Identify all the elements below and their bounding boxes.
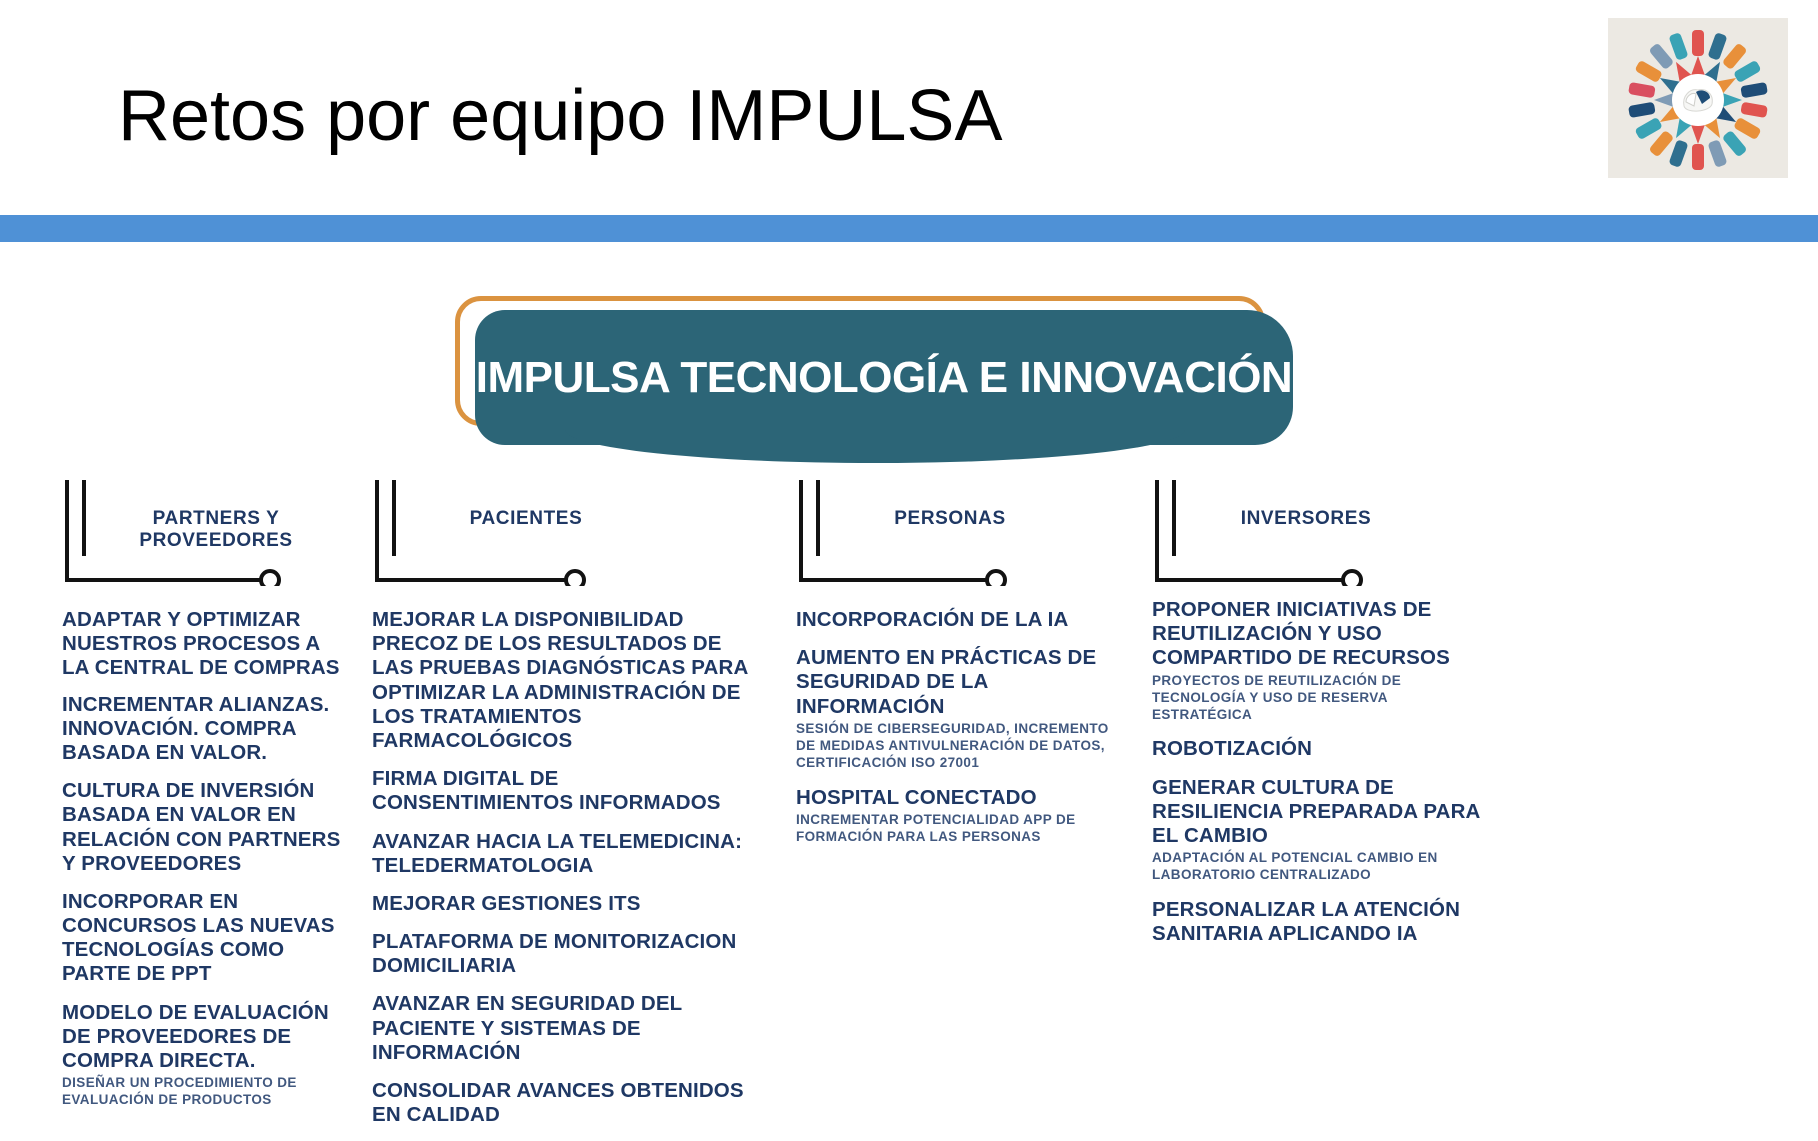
bracket-icon: [796, 480, 1126, 586]
column-header: INVERSORES: [1152, 480, 1482, 586]
list-item: INCORPORAR EN CONCURSOS LAS NUEVAS TECNO…: [62, 890, 352, 987]
banner-shape: IMPULSA TECNOLOGÍA E INNOVACIÓN: [475, 310, 1293, 445]
item-main-text: AVANZAR HACIA LA TELEMEDICINA: TELEDERMA…: [372, 830, 762, 878]
list-item: CONSOLIDAR AVANCES OBTENIDOS EN CALIDAD: [372, 1079, 762, 1127]
item-main-text: INCORPORACIÓN DE LA IA: [796, 608, 1126, 632]
list-item: MEJORAR LA DISPONIBILIDAD PRECOZ DE LOS …: [372, 608, 762, 753]
item-sub-text: PROYECTOS DE REUTILIZACIÓN DE TECNOLOGÍA…: [1152, 672, 1482, 724]
column-partners-y-proveedores: PARTNERS Y PROVEEDORES ADAPTAR Y OPTIMIZ…: [62, 480, 352, 1123]
item-sub-text: ADAPTACIÓN AL POTENCIAL CAMBIO EN LABORA…: [1152, 849, 1482, 884]
item-main-text: MEJORAR LA DISPONIBILIDAD PRECOZ DE LOS …: [372, 608, 762, 753]
column-title: PERSONAS: [850, 508, 1050, 530]
item-main-text: AVANZAR EN SEGURIDAD DEL PACIENTE Y SIST…: [372, 992, 762, 1065]
item-list: PROPONER INICIATIVAS DE REUTILIZACIÓN Y …: [1152, 586, 1482, 946]
circle-of-hands-logo: [1608, 18, 1788, 178]
item-main-text: PERSONALIZAR LA ATENCIÓN SANITARIA APLIC…: [1152, 898, 1482, 946]
item-main-text: PROPONER INICIATIVAS DE REUTILIZACIÓN Y …: [1152, 598, 1482, 671]
item-main-text: MEJORAR GESTIONES ITS: [372, 892, 762, 916]
item-list: MEJORAR LA DISPONIBILIDAD PRECOZ DE LOS …: [372, 586, 762, 1127]
list-item: HOSPITAL CONECTADO INCREMENTAR POTENCIAL…: [796, 786, 1126, 846]
item-main-text: CULTURA DE INVERSIÓN BASADA EN VALOR EN …: [62, 779, 352, 876]
list-item: AVANZAR HACIA LA TELEMEDICINA: TELEDERMA…: [372, 830, 762, 878]
item-list: INCORPORACIÓN DE LA IA AUMENTO EN PRÁCTI…: [796, 586, 1126, 845]
list-item: GENERAR CULTURA DE RESILIENCIA PREPARADA…: [1152, 776, 1482, 884]
list-item: PERSONALIZAR LA ATENCIÓN SANITARIA APLIC…: [1152, 898, 1482, 946]
item-main-text: ADAPTAR Y OPTIMIZAR NUESTROS PROCESOS A …: [62, 608, 352, 681]
item-main-text: AUMENTO EN PRÁCTICAS DE SEGURIDAD DE LA …: [796, 646, 1126, 719]
column-header: PERSONAS: [796, 480, 1126, 586]
list-item: ADAPTAR Y OPTIMIZAR NUESTROS PROCESOS A …: [62, 608, 352, 681]
page-title: Retos por equipo IMPULSA: [118, 80, 1002, 152]
column-title: INVERSORES: [1206, 508, 1406, 530]
item-main-text: CONSOLIDAR AVANCES OBTENIDOS EN CALIDAD: [372, 1079, 762, 1127]
bracket-icon: [372, 480, 762, 586]
list-item: INCORPORACIÓN DE LA IA: [796, 608, 1126, 632]
list-item: MEJORAR GESTIONES ITS: [372, 892, 762, 916]
list-item: CULTURA DE INVERSIÓN BASADA EN VALOR EN …: [62, 779, 352, 876]
list-item: PLATAFORMA DE MONITORIZACION DOMICILIARI…: [372, 930, 762, 978]
impulsa-banner: IMPULSA TECNOLOGÍA E INNOVACIÓN: [455, 296, 1295, 466]
list-item: AUMENTO EN PRÁCTICAS DE SEGURIDAD DE LA …: [796, 646, 1126, 771]
item-main-text: PLATAFORMA DE MONITORIZACION DOMICILIARI…: [372, 930, 762, 978]
list-item: INCREMENTAR ALIANZAS. INNOVACIÓN. COMPRA…: [62, 693, 352, 766]
item-main-text: INCORPORAR EN CONCURSOS LAS NUEVAS TECNO…: [62, 890, 352, 987]
item-sub-text: DISEÑAR UN PROCEDIMIENTO DE EVALUACIÓN D…: [62, 1074, 352, 1109]
list-item: PROPONER INICIATIVAS DE REUTILIZACIÓN Y …: [1152, 598, 1482, 723]
item-main-text: ROBOTIZACIÓN: [1152, 737, 1482, 761]
column-personas: PERSONAS INCORPORACIÓN DE LA IA AUMENTO …: [796, 480, 1126, 859]
banner-label: IMPULSA TECNOLOGÍA E INNOVACIÓN: [476, 353, 1292, 403]
column-inversores: INVERSORES PROPONER INICIATIVAS DE REUTI…: [1152, 480, 1482, 960]
list-item: ROBOTIZACIÓN: [1152, 737, 1482, 761]
column-title: PACIENTES: [426, 508, 626, 530]
column-header: PACIENTES: [372, 480, 762, 586]
circle-of-hands-logo-graphic: [1608, 18, 1788, 178]
item-main-text: MODELO DE EVALUACIÓN DE PROVEEDORES DE C…: [62, 1001, 352, 1074]
list-item: AVANZAR EN SEGURIDAD DEL PACIENTE Y SIST…: [372, 992, 762, 1065]
column-header: PARTNERS Y PROVEEDORES: [62, 480, 352, 586]
list-item: MODELO DE EVALUACIÓN DE PROVEEDORES DE C…: [62, 1001, 352, 1109]
accent-bar: [0, 215, 1818, 242]
list-item: FIRMA DIGITAL DE CONSENTIMIENTOS INFORMA…: [372, 767, 762, 815]
item-list: ADAPTAR Y OPTIMIZAR NUESTROS PROCESOS A …: [62, 586, 352, 1109]
item-sub-text: SESIÓN DE CIBERSEGURIDAD, INCREMENTO DE …: [796, 720, 1126, 772]
item-main-text: GENERAR CULTURA DE RESILIENCIA PREPARADA…: [1152, 776, 1482, 849]
column-pacientes: PACIENTES MEJORAR LA DISPONIBILIDAD PREC…: [372, 480, 762, 1141]
item-main-text: INCREMENTAR ALIANZAS. INNOVACIÓN. COMPRA…: [62, 693, 352, 766]
bracket-icon: [1152, 480, 1482, 586]
item-main-text: FIRMA DIGITAL DE CONSENTIMIENTOS INFORMA…: [372, 767, 762, 815]
item-sub-text: INCREMENTAR POTENCIALIDAD APP DE FORMACI…: [796, 811, 1126, 846]
column-title: PARTNERS Y PROVEEDORES: [116, 508, 316, 552]
item-main-text: HOSPITAL CONECTADO: [796, 786, 1126, 810]
